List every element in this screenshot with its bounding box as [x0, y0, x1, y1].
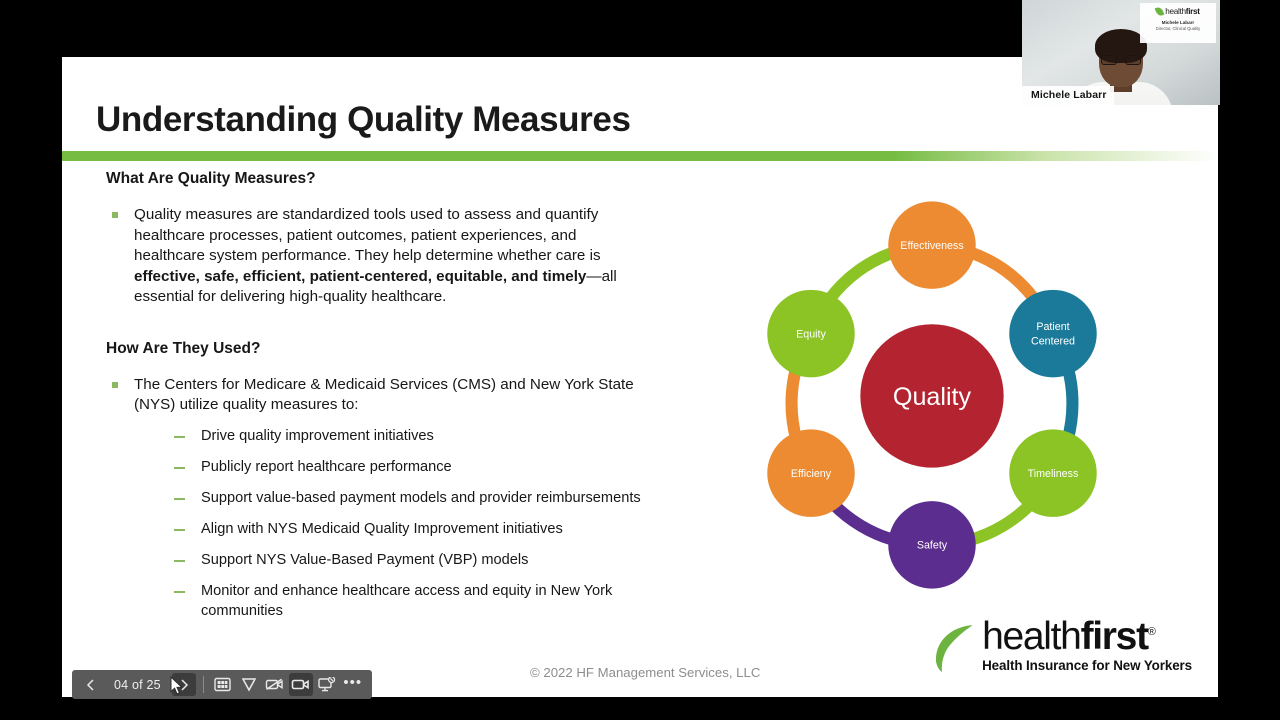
- gallery-view-icon: [214, 677, 231, 692]
- list-item: Monitor and enhance healthcare access an…: [174, 581, 646, 621]
- gallery-view-button[interactable]: [211, 673, 235, 696]
- overlay-word-health: health: [1165, 7, 1186, 16]
- logo-wordmark: healthfirst®: [982, 612, 1154, 657]
- list-item: Support NYS Value-Based Payment (VBP) mo…: [174, 550, 646, 570]
- healthfirst-logo: healthfirst® Health Insurance for New Yo…: [933, 612, 1192, 673]
- participant-video-tile[interactable]: healthfirst Michele Labarr Director, Cli…: [1022, 0, 1220, 105]
- copyright-notice: © 2022 HF Management Services, LLC: [530, 665, 760, 680]
- previous-slide-button[interactable]: [79, 673, 103, 696]
- participant-name-label: Michele Labarr: [1022, 86, 1114, 105]
- node-label-safety: Safety: [917, 540, 948, 552]
- list-item: Align with NYS Medicaid Quality Improvem…: [174, 519, 646, 539]
- video-camera-icon: [291, 677, 310, 692]
- more-options-icon: •••: [343, 674, 362, 696]
- list-item: Publicly report healthcare performance: [174, 457, 646, 477]
- camera-off-button[interactable]: [263, 673, 287, 696]
- section-heading-how: How Are They Used?: [106, 340, 646, 358]
- overlay-name: Michele Labarr: [1162, 20, 1194, 25]
- mouse-cursor: [170, 676, 183, 695]
- screen: Understanding Quality Measures What Are …: [0, 0, 1280, 720]
- presentation-slide[interactable]: Understanding Quality Measures What Are …: [62, 57, 1218, 697]
- sub-bullet-list: Drive quality improvement initiatives Pu…: [174, 426, 646, 621]
- bullet-text-a: Quality measures are standardized tools …: [134, 206, 601, 264]
- node-label-quality: Quality: [893, 383, 972, 411]
- node-label-efficiency: Efficieny: [791, 468, 832, 480]
- more-options-button[interactable]: •••: [341, 673, 365, 696]
- bullet-text: The Centers for Medicare & Medicaid Serv…: [134, 376, 634, 414]
- bullet-text-bold: effective, safe, efficient, patient-cent…: [134, 268, 586, 285]
- overlay-role: Director, Clinical Quality: [1156, 26, 1200, 31]
- quality-wheel-diagram: Effectiveness Patient Centered Timelines…: [722, 180, 1142, 610]
- registered-mark: ®: [1148, 626, 1155, 638]
- overlay-wordmark: healthfirst: [1165, 7, 1199, 16]
- bullet-list-what: Quality measures are standardized tools …: [106, 205, 646, 308]
- section-heading-what: What Are Quality Measures?: [106, 170, 646, 188]
- logo-word-first: first: [1081, 615, 1148, 658]
- leaf-icon: [1155, 6, 1165, 17]
- leaf-icon: [933, 623, 975, 673]
- video-camera-button[interactable]: [289, 673, 313, 696]
- list-item: Drive quality improvement initiatives: [174, 426, 646, 446]
- page-title: Understanding Quality Measures: [96, 100, 631, 140]
- logo-word-health: health: [982, 615, 1080, 658]
- chevron-left-icon: [84, 678, 98, 692]
- overlay-logo: healthfirst: [1156, 7, 1199, 16]
- node-label-patient: Patient: [1036, 321, 1069, 333]
- bullet-item: The Centers for Medicare & Medicaid Serv…: [106, 375, 646, 621]
- node-label-timeliness: Timeliness: [1028, 468, 1079, 480]
- list-item: Support value-based payment models and p…: [174, 488, 646, 508]
- video-overlay-card: healthfirst Michele Labarr Director, Cli…: [1140, 3, 1216, 43]
- slide-body-left: What Are Quality Measures? Quality measu…: [106, 170, 646, 632]
- pointer-icon: [241, 677, 257, 692]
- pointer-button[interactable]: [237, 673, 261, 696]
- logo-text: healthfirst® Health Insurance for New Yo…: [982, 612, 1192, 673]
- node-label-effectiveness: Effectiveness: [900, 240, 963, 252]
- slide-navigation-toolbar[interactable]: 04 of 25: [72, 670, 372, 699]
- bullet-list-how: The Centers for Medicare & Medicaid Serv…: [106, 375, 646, 621]
- node-label-centered: Centered: [1031, 336, 1075, 348]
- camera-off-icon: [265, 677, 284, 692]
- bullet-item: Quality measures are standardized tools …: [106, 205, 646, 308]
- glasses-icon: [1101, 55, 1141, 65]
- overlay-word-first: first: [1186, 7, 1200, 16]
- toolbar-divider: [203, 676, 204, 693]
- node-patient-centered: [1009, 290, 1096, 377]
- node-label-equity: Equity: [796, 328, 826, 340]
- title-divider: [62, 151, 1218, 161]
- logo-tagline: Health Insurance for New Yorkers: [982, 658, 1192, 673]
- stop-share-button[interactable]: [315, 673, 339, 696]
- stop-share-icon: [318, 677, 336, 693]
- page-indicator: 04 of 25: [105, 678, 170, 692]
